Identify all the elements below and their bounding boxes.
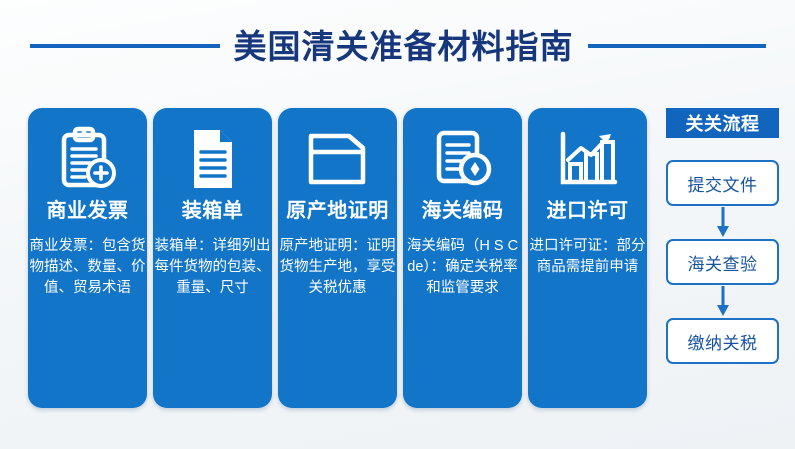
page-title: 美国清关准备材料指南 [234,30,574,63]
flow-step-submit-documents[interactable]: 提交文件 [666,160,779,206]
card-certificate-of-origin[interactable]: 原产地证明 原产地证明：证明货物生产地，享受关税优惠 [278,108,397,408]
flow-spacer [662,138,786,160]
flow-header: 关关流程 [666,108,779,138]
card-packing-list[interactable]: 装箱单 装箱单：详细列出每件货物的包装、重量、尺寸 [153,108,272,408]
card-body: 进口许可证：部分商品需提前申请 [530,236,646,278]
document-lines-icon [182,120,244,198]
customs-flow-panel: 关关流程 提交文件 海关查验 缴纳关税 [662,108,786,408]
folder-icon [305,120,371,198]
document-seal-icon [431,120,495,198]
flow-arrow-2-icon [666,285,779,318]
flow-step-pay-duties[interactable]: 缴纳关税 [666,318,779,364]
flow-step-customs-inspection[interactable]: 海关查验 [666,239,779,285]
card-title: 装箱单 [182,200,244,222]
flow-arrow-1-icon [666,206,779,239]
card-hs-code[interactable]: 海关编码 海关编码（H S Cde）：确定关税率和监管要求 [403,108,522,408]
card-title: 进口许可 [547,200,629,222]
card-body: 海关编码（H S Cde）：确定关税率和监管要求 [405,236,521,299]
card-title: 海关编码 [422,200,504,222]
card-body: 装箱单：详细列出每件货物的包装、重量、尺寸 [155,236,271,299]
title-rule-left [30,44,220,48]
bar-chart-arrow-icon [555,120,621,198]
clipboard-plus-icon [57,120,119,198]
card-import-license[interactable]: 进口许可 进口许可证：部分商品需提前申请 [528,108,647,408]
title-rule-right [588,44,766,48]
card-commercial-invoice[interactable]: 商业发票 商业发票：包含货物描述、数量、价值、贸易术语 [28,108,147,408]
document-cards-row: 商业发票 商业发票：包含货物描述、数量、价值、贸易术语 装箱单 装箱单：详细列出… [28,108,648,408]
page-title-bar: 美国清关准备材料指南 [0,14,795,78]
card-body: 原产地证明：证明货物生产地，享受关税优惠 [280,236,396,299]
card-body: 商业发票：包含货物描述、数量、价值、贸易术语 [30,236,146,299]
card-title: 原产地证明 [286,200,389,222]
card-title: 商业发票 [47,200,129,222]
